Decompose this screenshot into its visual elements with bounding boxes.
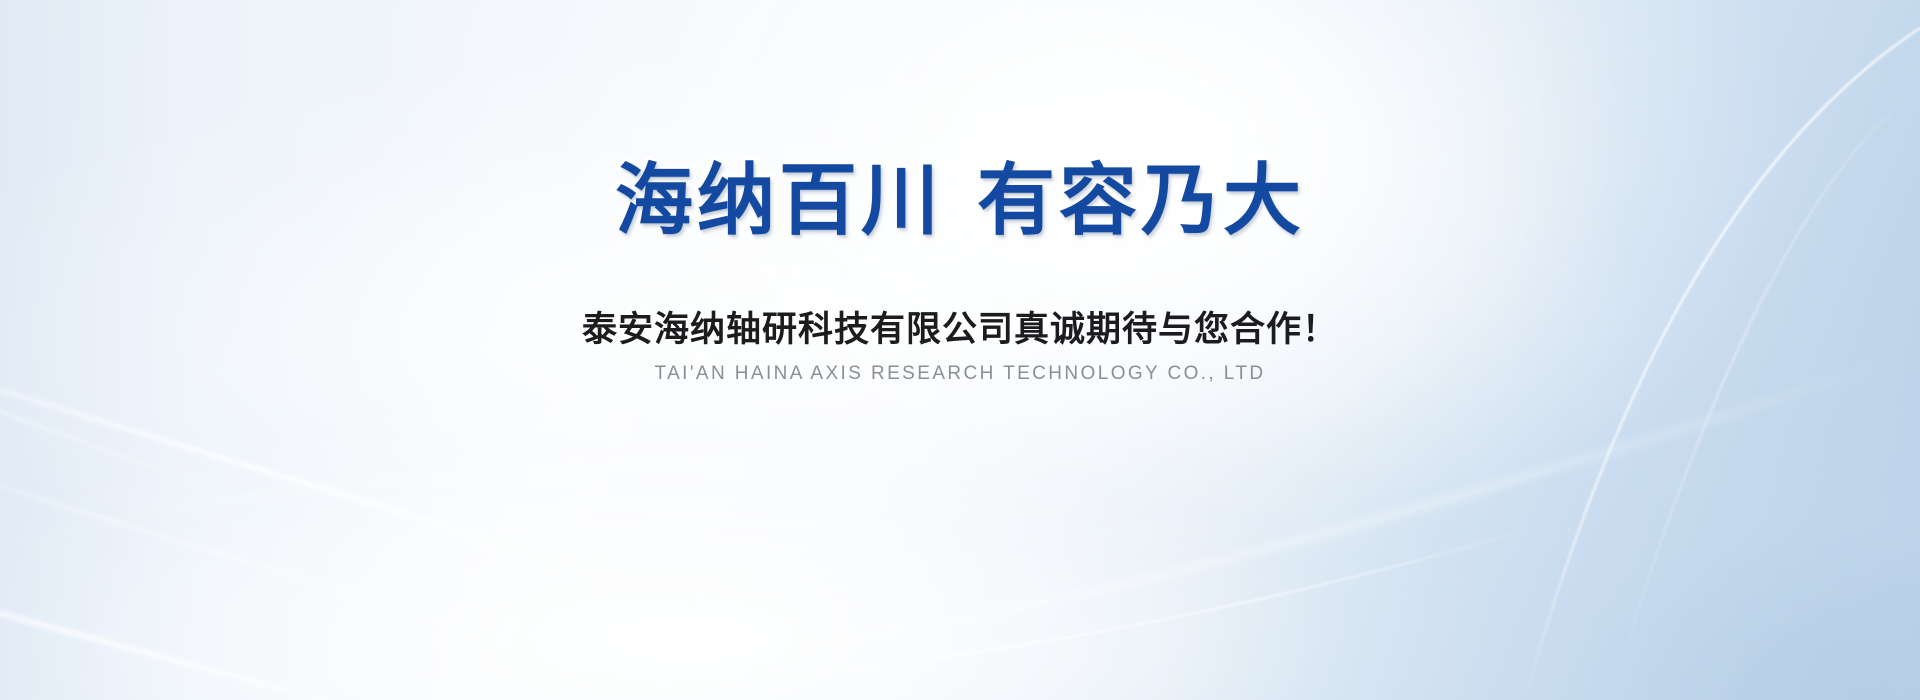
headline-part-1: 海纳百川 xyxy=(615,156,943,244)
arc-bottom-sweep-thin xyxy=(520,520,1560,700)
arc-mid-left xyxy=(0,471,980,560)
banner-headline: 海纳百川有容乃大 xyxy=(0,161,1920,239)
banner-subtitle-english: TAI'AN HAINA AXIS RESEARCH TECHNOLOGY CO… xyxy=(0,363,1920,386)
banner-subtitle-chinese: 泰安海纳轴研科技有限公司真诚期待与您合作！ xyxy=(0,309,1920,351)
hero-banner: 海纳百川有容乃大 泰安海纳轴研科技有限公司真诚期待与您合作！ TAI'AN HA… xyxy=(0,0,1920,700)
arc-bottom-sweep xyxy=(380,352,1920,700)
headline-part-2: 有容乃大 xyxy=(977,156,1305,244)
